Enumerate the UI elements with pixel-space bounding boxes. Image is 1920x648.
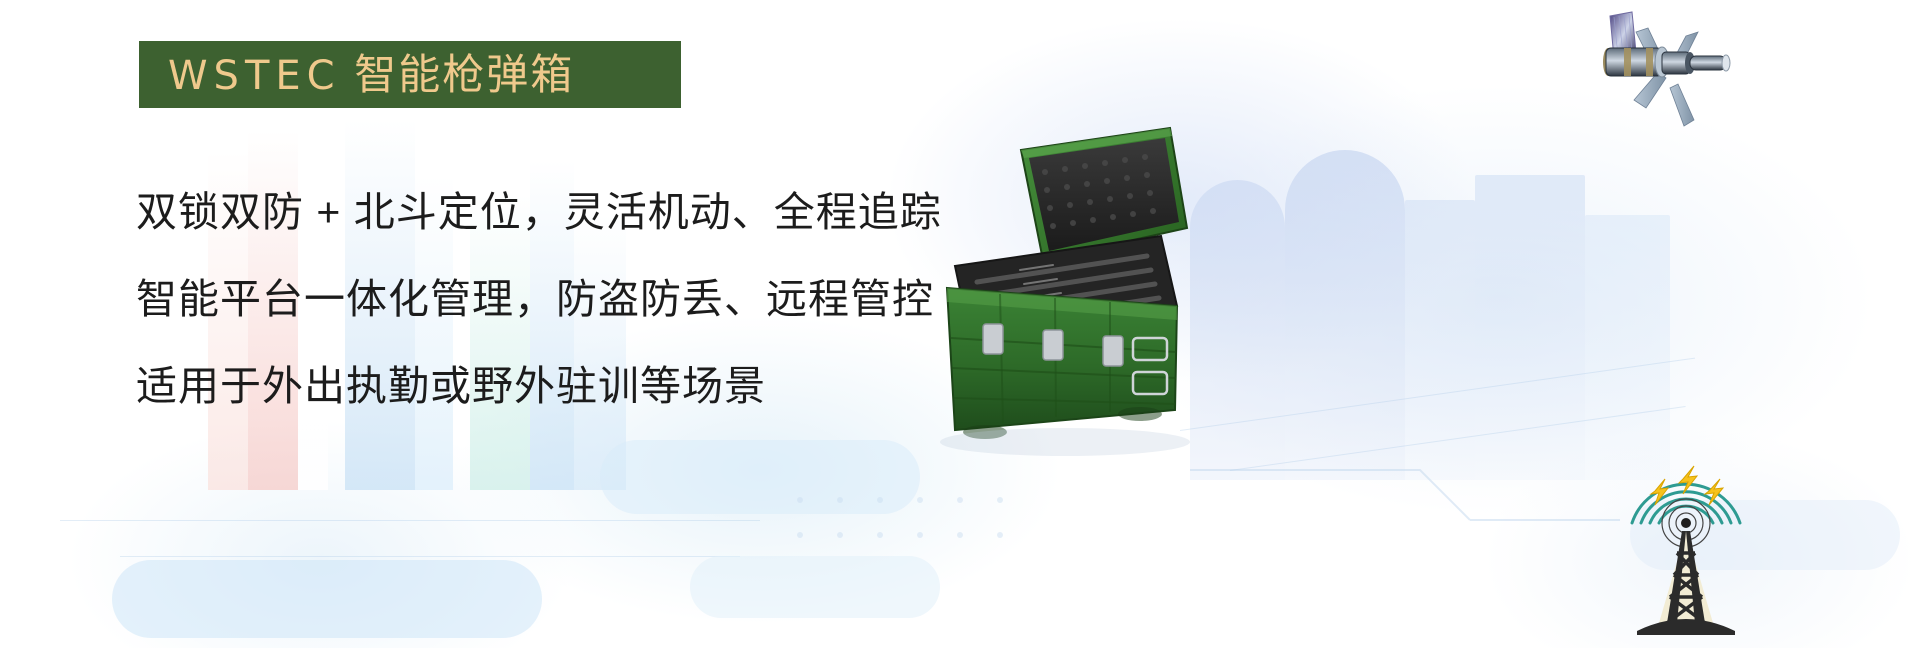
bg-bar [1475, 175, 1585, 480]
bg-line [120, 556, 740, 557]
bg-line [60, 520, 760, 521]
promo-banner-canvas: WSTEC 智能枪弹箱 双锁双防 + 北斗定位，灵活机动、全程追踪 智能平台一体… [0, 0, 1920, 648]
bg-blob [600, 440, 920, 514]
satellite-body [1603, 47, 1730, 77]
title-banner: WSTEC 智能枪弹箱 [139, 41, 681, 108]
bg-blob [690, 556, 940, 618]
case-body [947, 288, 1177, 439]
banner-title-cn: 智能枪弹箱 [354, 51, 574, 98]
feature-list: 双锁双防 + 北斗定位，灵活机动、全程追踪 智能平台一体化管理，防盗防丢、远程管… [136, 184, 966, 445]
feature-line: 双锁双防 + 北斗定位，灵活机动、全程追踪 [136, 184, 966, 240]
banner-title: WSTEC 智能枪弹箱 [139, 54, 574, 96]
product-image-ammunition-case [925, 110, 1255, 460]
signal-tower-icon [1613, 445, 1759, 645]
satellite-antenna-wings [1634, 28, 1698, 126]
bg-bar [1585, 215, 1670, 480]
satellite-icon [1600, 4, 1790, 154]
bg-bar [1405, 200, 1475, 480]
antenna-hub [1681, 518, 1691, 528]
feature-line: 智能平台一体化管理，防盗防丢、远程管控 [136, 271, 966, 327]
feature-line: 适用于外出执勤或野外驻训等场景 [136, 358, 966, 414]
bg-line [1180, 358, 1695, 431]
brand-name: WSTEC [168, 53, 341, 99]
bg-bar [1285, 150, 1405, 480]
bg-blob [112, 560, 542, 638]
tower-structure [1637, 531, 1735, 635]
